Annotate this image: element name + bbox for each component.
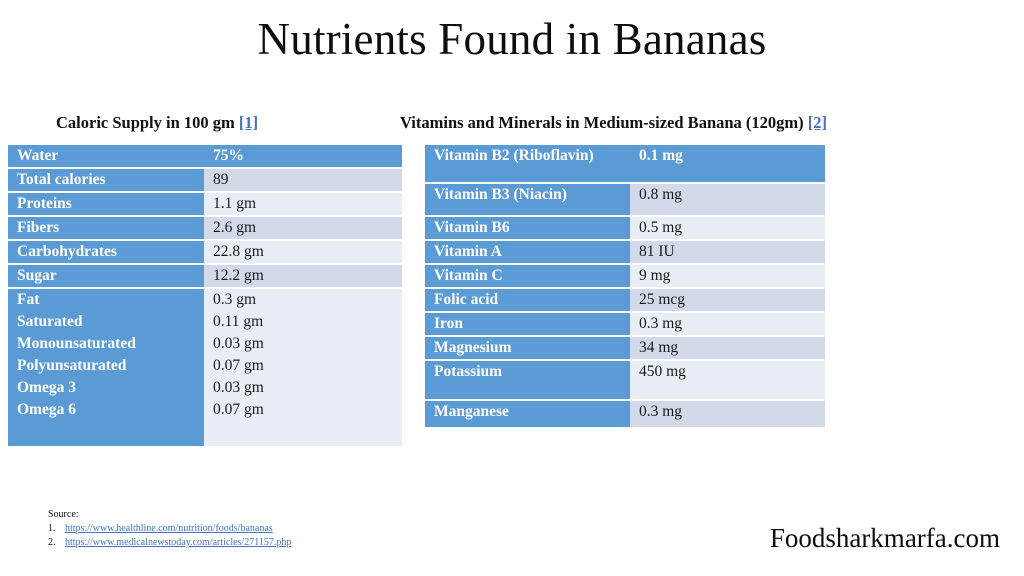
fat-label-line: Omega 3 — [17, 377, 195, 399]
row-label: Iron — [425, 313, 630, 337]
fat-value-line: 0.03 gm — [213, 377, 393, 399]
list-item: 1.https://www.healthline.com/nutrition/f… — [48, 522, 291, 536]
caloric-supply-table: Water75%Total calories89Proteins1.1 gmFi… — [8, 145, 402, 446]
source-url-link[interactable]: https://www.medicalnewstoday.com/article… — [65, 536, 291, 550]
table-row: Proteins1.1 gm — [8, 193, 402, 217]
row-value: 81 IU — [630, 241, 825, 265]
row-value: 12.2 gm — [204, 265, 402, 289]
row-label: Total calories — [8, 169, 204, 193]
table-row: Total calories89 — [8, 169, 402, 193]
row-label: Potassium — [425, 361, 630, 401]
table-row: Sugar12.2 gm — [8, 265, 402, 289]
row-value: 89 — [204, 169, 402, 193]
row-value: 22.8 gm — [204, 241, 402, 265]
fat-value-line: 0.07 gm — [213, 355, 393, 377]
right-caption-reference-link[interactable]: [2] — [808, 113, 827, 132]
table-row: Vitamin C9 mg — [425, 265, 825, 289]
right-caption-text: Vitamins and Minerals in Medium-sized Ba… — [400, 113, 808, 132]
row-label: Proteins — [8, 193, 204, 217]
row-value: 25 mcg — [630, 289, 825, 313]
fat-label-line: Saturated — [17, 311, 195, 333]
row-value: 450 mg — [630, 361, 825, 401]
source-link-list: 1.https://www.healthline.com/nutrition/f… — [48, 522, 291, 550]
row-label: Folic acid — [425, 289, 630, 313]
row-value: 0.5 mg — [630, 217, 825, 241]
row-value: 34 mg — [630, 337, 825, 361]
fat-breakdown-labels: FatSaturatedMonounsaturatedPolyunsaturat… — [8, 289, 204, 446]
table-row: Potassium450 mg — [425, 361, 825, 401]
fat-label-line: Omega 6 — [17, 399, 195, 421]
fat-value-line: 0.03 gm — [213, 333, 393, 355]
row-label: Magnesium — [425, 337, 630, 361]
row-label: Manganese — [425, 401, 630, 427]
left-table-caption: Caloric Supply in 100 gm [1] — [56, 114, 258, 132]
left-caption-reference-link[interactable]: [1] — [239, 113, 258, 132]
row-value: 75% — [204, 145, 402, 169]
fat-label-line: Fat — [17, 289, 195, 311]
vitamins-minerals-table: Vitamin B2 (Riboflavin)0.1 mgVitamin B3 … — [425, 145, 825, 427]
row-value: 0.3 mg — [630, 313, 825, 337]
row-label: Vitamin B6 — [425, 217, 630, 241]
row-label: Sugar — [8, 265, 204, 289]
fat-breakdown-row: FatSaturatedMonounsaturatedPolyunsaturat… — [8, 289, 402, 446]
row-value: 2.6 gm — [204, 217, 402, 241]
table-row: Iron0.3 mg — [425, 313, 825, 337]
table-row: Fibers2.6 gm — [8, 217, 402, 241]
fat-value-line: 0.07 gm — [213, 399, 393, 421]
source-number: 1. — [48, 522, 59, 536]
table-row: Water75% — [8, 145, 402, 169]
table-row: Vitamin B3 (Niacin)0.8 mg — [425, 184, 825, 217]
row-label: Vitamin A — [425, 241, 630, 265]
row-value: 0.3 mg — [630, 401, 825, 427]
right-table-caption: Vitamins and Minerals in Medium-sized Ba… — [400, 114, 827, 132]
row-label: Vitamin B3 (Niacin) — [425, 184, 630, 217]
table-row: Vitamin B2 (Riboflavin)0.1 mg — [425, 145, 825, 184]
left-caption-text: Caloric Supply in 100 gm — [56, 113, 239, 132]
table-row: Folic acid25 mcg — [425, 289, 825, 313]
page-title: Nutrients Found in Bananas — [0, 14, 1024, 64]
table-row: Magnesium34 mg — [425, 337, 825, 361]
fat-value-line: 0.11 gm — [213, 311, 393, 333]
table-row: Vitamin B60.5 mg — [425, 217, 825, 241]
fat-label-line: Monounsaturated — [17, 333, 195, 355]
row-value: 0.8 mg — [630, 184, 825, 217]
row-value: 0.1 mg — [630, 145, 825, 184]
row-value: 1.1 gm — [204, 193, 402, 217]
site-watermark: Foodsharkmarfa.com — [770, 523, 1000, 554]
row-label: Carbohydrates — [8, 241, 204, 265]
source-heading: Source: — [48, 508, 291, 521]
fat-label-line: Polyunsaturated — [17, 355, 195, 377]
list-item: 2.https://www.medicalnewstoday.com/artic… — [48, 536, 291, 550]
row-label: Vitamin C — [425, 265, 630, 289]
source-block: Source: 1.https://www.healthline.com/nut… — [48, 508, 291, 550]
source-number: 2. — [48, 536, 59, 550]
row-label: Fibers — [8, 217, 204, 241]
row-label: Water — [8, 145, 204, 169]
fat-breakdown-values: 0.3 gm0.11 gm0.03 gm0.07 gm0.03 gm0.07 g… — [204, 289, 402, 446]
row-value: 9 mg — [630, 265, 825, 289]
fat-value-line: 0.3 gm — [213, 289, 393, 311]
table-row: Manganese0.3 mg — [425, 401, 825, 427]
table-row: Carbohydrates22.8 gm — [8, 241, 402, 265]
row-label: Vitamin B2 (Riboflavin) — [425, 145, 630, 184]
source-url-link[interactable]: https://www.healthline.com/nutrition/foo… — [65, 522, 273, 536]
table-row: Vitamin A81 IU — [425, 241, 825, 265]
